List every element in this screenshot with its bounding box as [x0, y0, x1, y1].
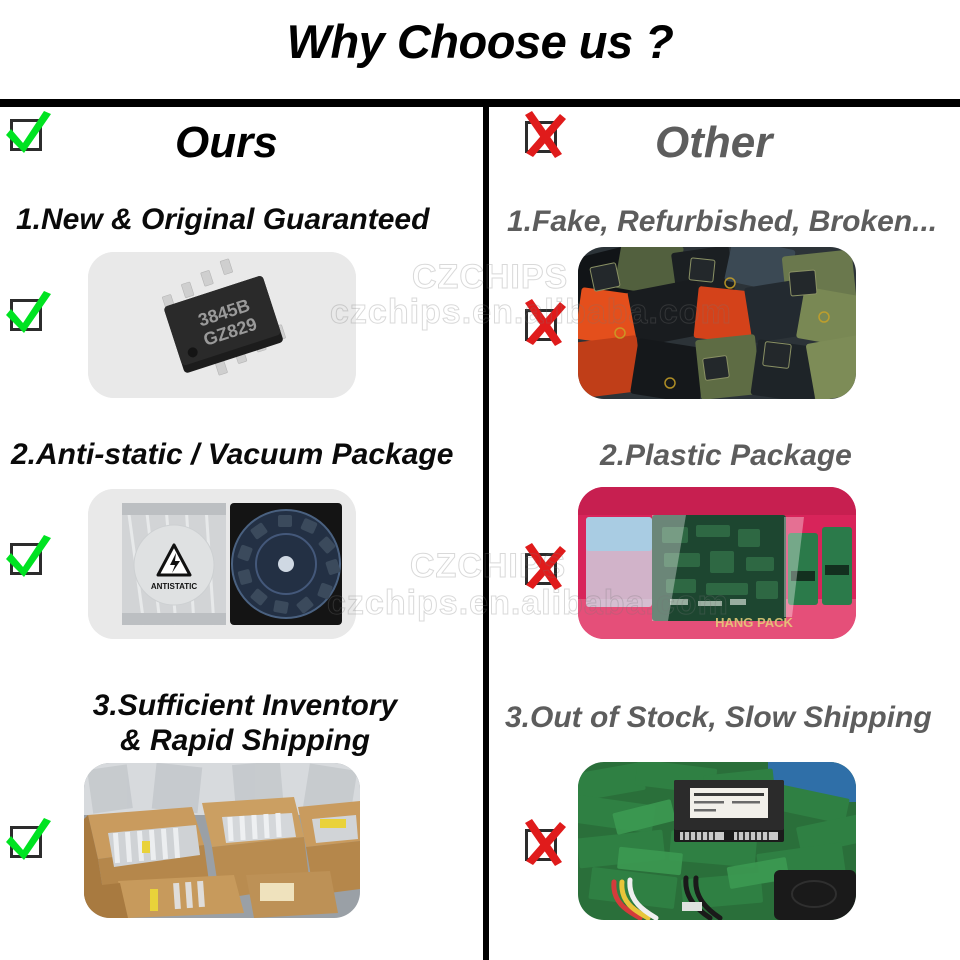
ours-caption-3-line1: 3.Sufficient Inventory	[25, 688, 465, 723]
check-mark-icon	[6, 537, 46, 577]
other-caption-2: 2.Plastic Package	[600, 439, 852, 473]
check-mark-icon	[6, 113, 46, 153]
other-photo-1	[578, 247, 856, 399]
ours-photo-2: ANTISTATIC	[88, 489, 356, 639]
check-mark-icon	[6, 820, 46, 860]
cross-mark-icon	[521, 547, 561, 587]
cross-mark-icon	[521, 823, 561, 863]
ours-caption-2: 2.Anti-static / Vacuum Package	[11, 438, 453, 472]
ours-caption-1: 1.New & Original Guaranteed	[16, 203, 429, 237]
other-label: Other	[655, 107, 772, 185]
watermark-brand: CZCHIPS	[412, 258, 568, 297]
check-mark-icon	[6, 293, 46, 333]
ours-photo-1: 3845B GZ829	[88, 252, 356, 398]
other-photo-3	[578, 762, 856, 920]
ours-label: Ours	[175, 107, 278, 185]
other-caption-1: 1.Fake, Refurbished, Broken...	[507, 205, 937, 239]
other-photo-text: HANG PACK	[715, 615, 793, 630]
cross-mark-icon	[521, 303, 561, 343]
ours-column-header: Ours	[0, 107, 483, 185]
ours-caption-3-line2: & Rapid Shipping	[25, 723, 465, 758]
cross-mark-icon	[521, 115, 561, 155]
column-divider-line	[483, 107, 489, 960]
other-photo-2: HANG PACK	[578, 487, 856, 639]
other-caption-3: 3.Out of Stock, Slow Shipping	[505, 701, 932, 735]
header-divider-line	[0, 99, 960, 107]
antistatic-label: ANTISTATIC	[151, 582, 198, 591]
why-choose-us-infographic: Why Choose us ? Ours Other 1.New & Origi…	[0, 0, 960, 960]
ours-photo-3	[84, 763, 360, 918]
page-title: Why Choose us ?	[0, 14, 960, 69]
ours-caption-3: 3.Sufficient Inventory & Rapid Shipping	[25, 688, 465, 759]
